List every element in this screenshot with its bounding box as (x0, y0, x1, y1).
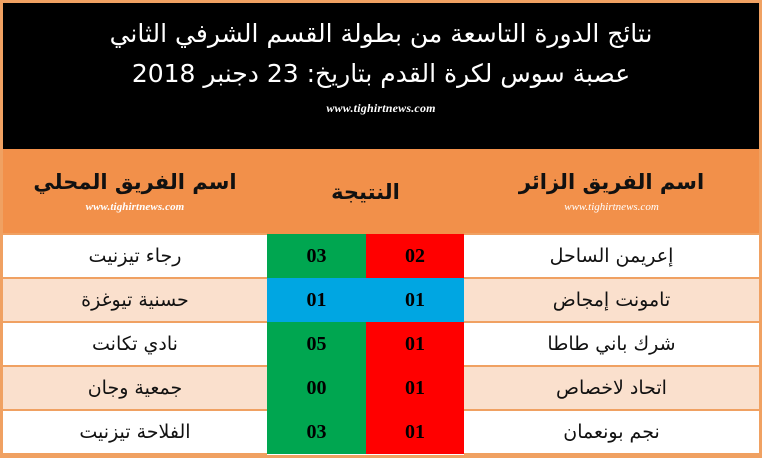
table-header-row: اسم الفريق الزائر www.tighirtnews.com ال… (3, 149, 759, 234)
column-header-away-team-label: اسم الفريق الزائر (519, 169, 704, 195)
home-header-watermark: www.tighirtnews.com (86, 201, 185, 213)
results-table: اسم الفريق الزائر www.tighirtnews.com ال… (3, 149, 759, 455)
away-team-name: إعريمن الساحل (464, 234, 759, 278)
banner-watermark: www.tighirtnews.com (326, 101, 435, 116)
column-header-home-team-label: اسم الفريق المحلي (33, 169, 236, 195)
home-team-name: رجاء تيزنيت (3, 234, 267, 278)
table-row: إعريمن الساحل0203رجاء تيزنيت (3, 234, 759, 278)
home-team-score: 05 (267, 322, 366, 366)
home-team-name: الفلاحة تيزنيت (3, 410, 267, 454)
column-header-result-label: النتيجة (331, 179, 400, 205)
away-team-score: 02 (366, 234, 464, 278)
away-team-name: اتحاد لاخصاص (464, 366, 759, 410)
column-header-away-team: اسم الفريق الزائر www.tighirtnews.com (464, 149, 759, 234)
table-row: تامونت إمجاض0101حسنية تيوغزة (3, 278, 759, 322)
away-team-score: 01 (366, 278, 464, 322)
home-team-score: 00 (267, 366, 366, 410)
away-team-score: 01 (366, 366, 464, 410)
title-line-1: نتائج الدورة التاسعة من بطولة القسم الشر… (110, 15, 653, 53)
title-banner: نتائج الدورة التاسعة من بطولة القسم الشر… (3, 3, 759, 149)
away-team-name: تامونت إمجاض (464, 278, 759, 322)
home-team-name: نادي تكانت (3, 322, 267, 366)
table-row: شرك باني طاطا0105نادي تكانت (3, 322, 759, 366)
table-row: نجم بونعمان0103الفلاحة تيزنيت (3, 410, 759, 454)
table-row: اتحاد لاخصاص0100جمعية وجان (3, 366, 759, 410)
results-table-body: إعريمن الساحل0203رجاء تيزنيتتامونت إمجاض… (3, 234, 759, 454)
away-team-score: 01 (366, 410, 464, 454)
column-header-result: النتيجة (267, 149, 464, 234)
home-team-score: 03 (267, 410, 366, 454)
away-team-name: شرك باني طاطا (464, 322, 759, 366)
home-team-score: 01 (267, 278, 366, 322)
home-team-score: 03 (267, 234, 366, 278)
away-team-name: نجم بونعمان (464, 410, 759, 454)
home-team-name: حسنية تيوغزة (3, 278, 267, 322)
column-header-home-team: اسم الفريق المحلي www.tighirtnews.com (3, 149, 267, 234)
home-team-name: جمعية وجان (3, 366, 267, 410)
title-line-2: عصبة سوس لكرة القدم بتاريخ: 23 دجنبر 201… (132, 55, 630, 93)
results-page: نتائج الدورة التاسعة من بطولة القسم الشر… (0, 0, 762, 458)
away-header-watermark: www.tighirtnews.com (564, 201, 659, 213)
away-team-score: 01 (366, 322, 464, 366)
